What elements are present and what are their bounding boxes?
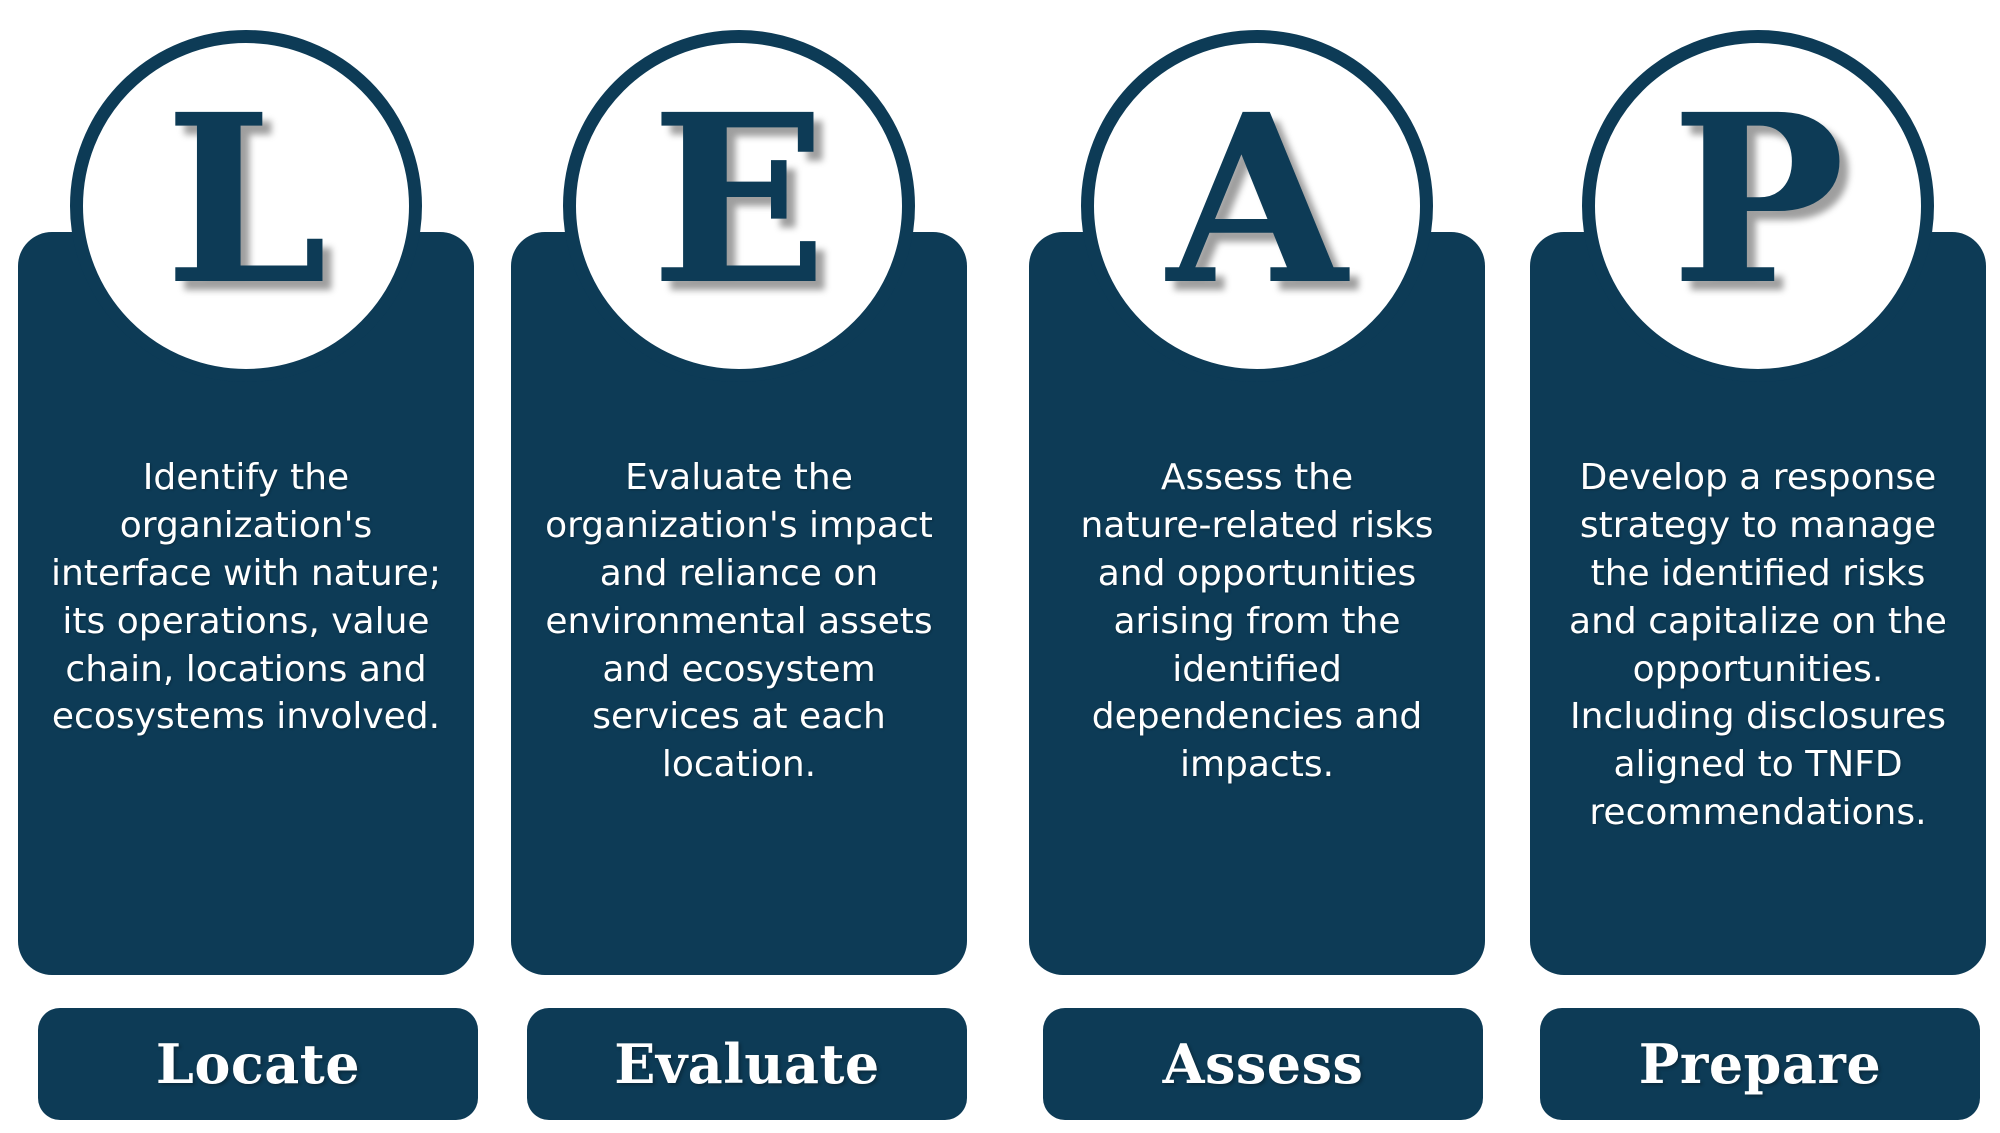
step-label-prepare: Prepare xyxy=(1639,1032,1881,1096)
leap-infographic: Identify the organization's interface wi… xyxy=(0,0,2000,1133)
step-column-evaluate[interactable]: Evaluate the organization's impact and r… xyxy=(511,0,967,1133)
step-column-assess[interactable]: Assess the nature-related risks and oppo… xyxy=(1029,0,1485,1133)
step-letter-a: A xyxy=(1167,84,1347,316)
step-badge-assess: A xyxy=(1081,30,1433,382)
step-letter-l: L xyxy=(164,84,327,316)
step-label-locate: Locate xyxy=(156,1032,360,1096)
step-letter-p: P xyxy=(1671,84,1845,316)
step-label-assess: Assess xyxy=(1163,1032,1364,1096)
step-letter-e: E xyxy=(651,84,828,316)
step-description-evaluate: Evaluate the organization's impact and r… xyxy=(533,454,945,789)
step-label-pill-assess[interactable]: Assess xyxy=(1043,1008,1483,1120)
step-description-assess: Assess the nature-related risks and oppo… xyxy=(1051,454,1463,789)
step-label-pill-evaluate[interactable]: Evaluate xyxy=(527,1008,967,1120)
step-badge-evaluate: E xyxy=(563,30,915,382)
step-column-locate[interactable]: Identify the organization's interface wi… xyxy=(18,0,474,1133)
step-badge-prepare: P xyxy=(1582,30,1934,382)
step-description-prepare: Develop a response strategy to manage th… xyxy=(1552,454,1964,837)
step-description-locate: Identify the organization's interface wi… xyxy=(40,454,452,741)
step-badge-locate: L xyxy=(70,30,422,382)
step-label-pill-prepare[interactable]: Prepare xyxy=(1540,1008,1980,1120)
step-label-evaluate: Evaluate xyxy=(614,1032,880,1096)
step-label-pill-locate[interactable]: Locate xyxy=(38,1008,478,1120)
step-column-prepare[interactable]: Develop a response strategy to manage th… xyxy=(1530,0,1986,1133)
